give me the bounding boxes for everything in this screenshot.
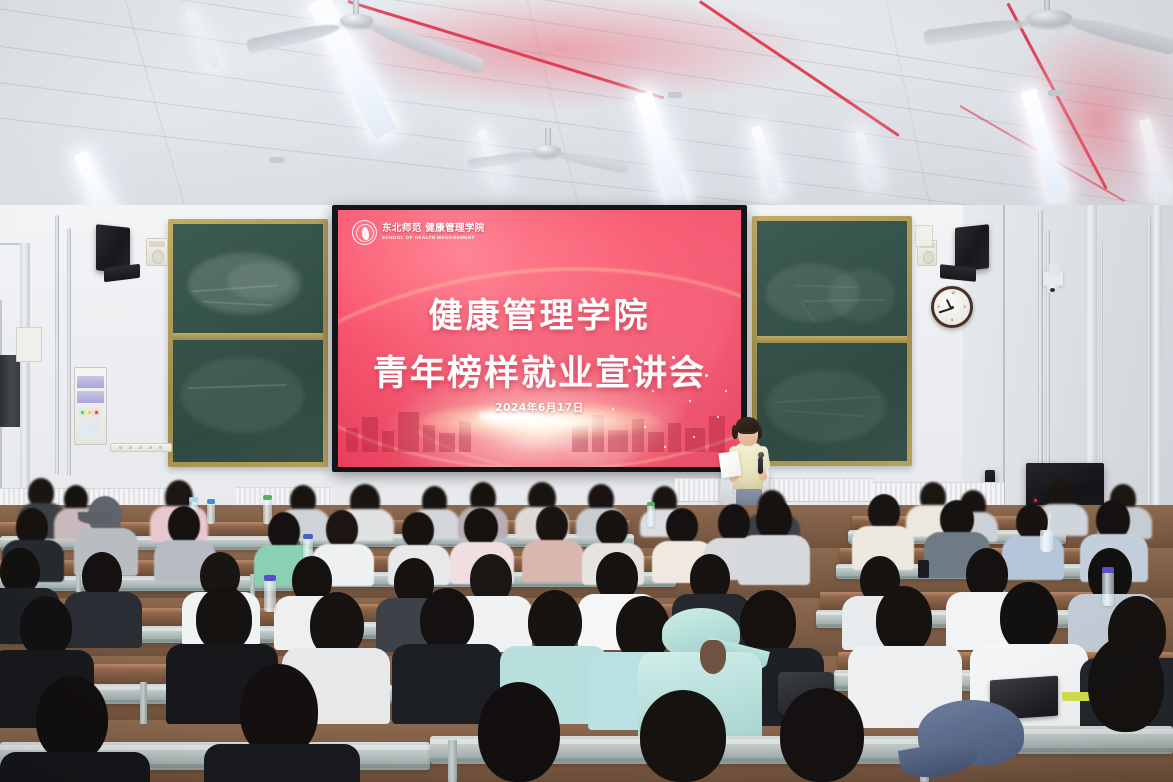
wall-vent-left [146,238,168,266]
script-paper [718,451,741,479]
logo-english-name: SCHOOL OF HEALTH MANAGEMENT [382,236,485,241]
phone-device [918,560,929,578]
security-camera-icon [1046,284,1059,293]
wall-pipe-left-b [67,228,71,476]
wall-pipe-left-a [55,215,59,475]
ceiling-light-8 [854,130,878,186]
water-bottle-4 [647,505,655,527]
school-emblem-icon [352,220,377,245]
wall-pipe-right-a [1038,210,1043,505]
water-bottle-6 [264,580,276,612]
wall-pipe-far-right [1147,215,1151,505]
water-bottle-3 [207,502,215,524]
wall-column-1 [1085,205,1097,505]
drink-cup [1040,530,1053,552]
led-amber [88,411,91,414]
led-green [81,411,84,414]
wall-speaker-right [955,224,989,272]
school-logo: 东北师范 健康管理学院 SCHOOL OF HEALTH MANAGEMENT [352,220,485,245]
slide-canvas: 东北师范 健康管理学院 SCHOOL OF HEALTH MANAGEMENT … [338,210,741,467]
ceiling-light-5 [751,125,781,195]
lecture-hall-photo: 东北师范 健康管理学院 SCHOOL OF HEALTH MANAGEMENT … [0,0,1173,782]
slide-subtitle: 青年榜样就业宣讲会 [338,345,741,396]
presentation-screen: 东北师范 健康管理学院 SCHOOL OF HEALTH MANAGEMENT … [332,205,747,472]
wall-control-panel [74,367,107,445]
right-wall-panel [963,205,1173,505]
left-chalkboard [168,219,328,467]
logo-chinese-name: 东北师范 健康管理学院 [382,224,485,234]
glasses-icon [740,432,755,436]
radiator-mid-left [236,487,332,507]
wall-notice-plate [16,327,42,362]
slide-date: 2024年6月17日 [338,400,741,415]
wall-clock: 12 3 6 9 [931,286,973,328]
wall-outlet-right [915,225,933,247]
microphone-head [758,452,764,458]
wall-pillar-left [20,243,30,505]
slide-title: 健康管理学院 [338,288,741,337]
camera-housing [1049,264,1060,276]
power-outlet-strip [110,443,172,452]
wall-column-2 [1152,205,1162,505]
ceiling [0,0,1173,215]
microphone [758,457,763,474]
clock-minute-hand [939,308,953,314]
ceiling-light-9 [185,7,221,69]
ponytail [700,640,726,674]
water-bottle-7 [1102,572,1114,606]
led-red [95,411,98,414]
